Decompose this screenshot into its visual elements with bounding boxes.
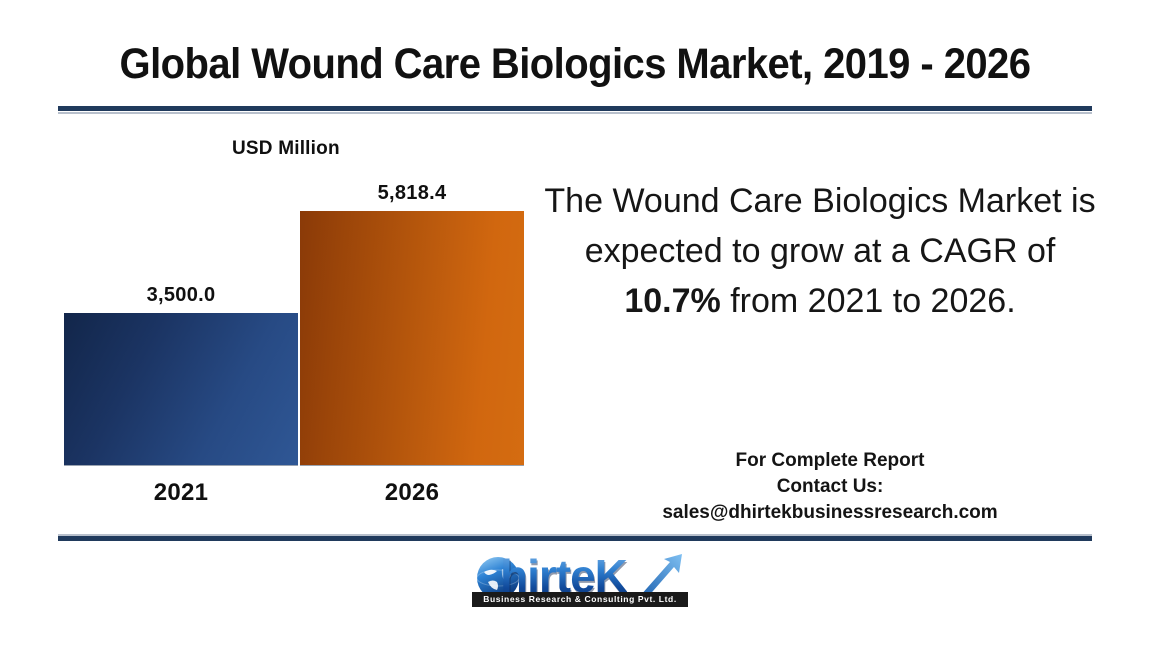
- divider-top-thick-rule: [58, 106, 1092, 111]
- company-logo: hirteK Business Research & Consulting Pv…: [466, 548, 694, 626]
- divider-top: [58, 106, 1092, 114]
- divider-bottom-thick-rule: [58, 536, 1092, 541]
- divider-bottom: [58, 534, 1092, 542]
- callout-text: The Wound Care Biologics Market is expec…: [540, 176, 1100, 326]
- bar-2026: [300, 211, 524, 465]
- chart-axis-title: USD Million: [232, 138, 340, 160]
- contact-heading: For Complete Report: [560, 448, 1100, 474]
- bar-value-label-2021: 3,500.0: [64, 284, 298, 307]
- bar-category-label-2021: 2021: [64, 479, 298, 507]
- contact-email[interactable]: sales@dhirtekbusinessresearch.com: [560, 500, 1100, 526]
- callout-line-3-suffix: from 2021: [721, 282, 884, 320]
- bar-category-label-2026: 2026: [300, 479, 524, 507]
- contact-subheading: Contact Us:: [560, 474, 1100, 500]
- logo-tagline: Business Research & Consulting Pvt. Ltd.: [472, 592, 688, 607]
- callout-line-4: to 2026.: [893, 282, 1016, 320]
- contact-block: For Complete Report Contact Us: sales@dh…: [560, 448, 1100, 526]
- cagr-value: 10.7%: [624, 282, 720, 320]
- page-title: Global Wound Care Biologics Market, 2019…: [40, 38, 1110, 90]
- callout-line-1: The Wound Care Biologics: [544, 182, 948, 220]
- bar-value-label-2026: 5,818.4: [300, 182, 524, 205]
- infographic-slide: Global Wound Care Biologics Market, 2019…: [0, 0, 1150, 647]
- bar-2021: [64, 313, 298, 465]
- divider-top-thin-rule: [58, 112, 1092, 114]
- bar-chart: 3,500.0 5,818.4 2021 2026: [0, 180, 540, 470]
- callout-line-3-prefix: a CAGR of: [891, 232, 1055, 270]
